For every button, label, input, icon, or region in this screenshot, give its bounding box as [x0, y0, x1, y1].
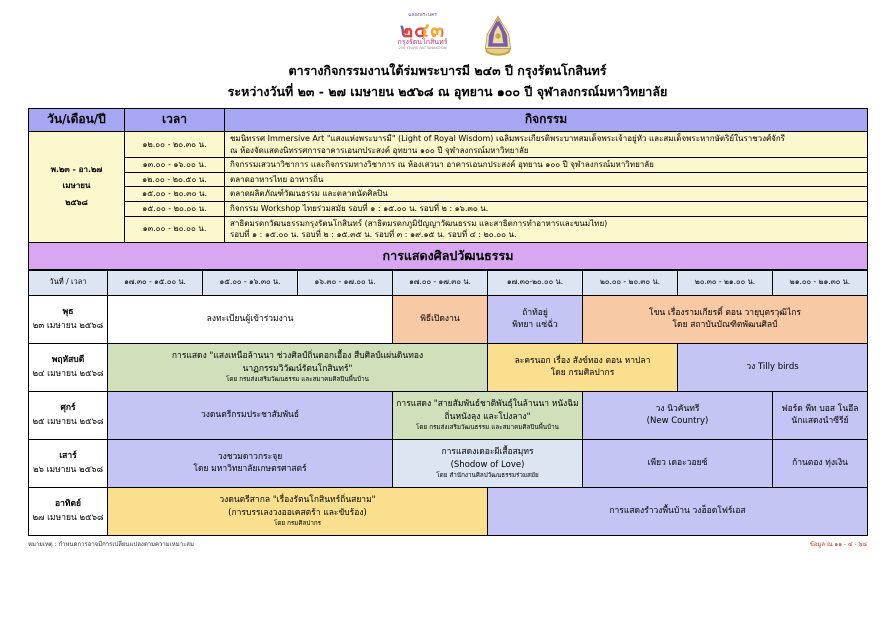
- schedule-row: ๑๓.๐๐ - ๒๐.๐๐ น.สาธิตมรดกวัฒนธรรมกรุงรัต…: [29, 216, 868, 242]
- perf-event-cell: โขน เรื่องรามเกียรติ์ ตอน วายุบุตรวุฒิไก…: [583, 295, 868, 343]
- logo-subtitle: กรุงรัตนโกสินทร์: [380, 39, 466, 46]
- schedule-row: ๑๒.๐๐ - ๒๐.๕๐ น.ตลาดอาหารไทย อาหารถิ่น: [29, 172, 868, 187]
- perf-day-cell: ศุกร์๒๕ เมษายน ๒๕๖๘: [29, 391, 108, 439]
- schedule-row: พ.๒๓ - อา.๒๗เมษายน๒๕๖๘๑๒.๐๐ - ๒๐.๓๐ น.ชม…: [29, 132, 868, 158]
- schedule-time-cell: ๑๕.๐๐ - ๒๐.๓๐ น.: [125, 187, 225, 202]
- perf-event-title: ก้านตอง ทุ่งเงิน: [776, 457, 864, 469]
- perf-event-cell: เพียว เดอะวอยซ์: [583, 439, 773, 487]
- perf-day-cell: พฤหัสบดี๒๔ เมษายน ๒๕๖๘: [29, 343, 108, 391]
- activity-line: สาธิตมรดกวัฒนธรรมกรุงรัตนโกสินทร์ (สาธิต…: [230, 219, 607, 228]
- perf-event-title: ฟอร์ด พีท บอส โนอึล: [776, 403, 864, 415]
- perf-event-subtitle: นักแสดงนำซีรีย์: [776, 415, 864, 427]
- perf-event-title: การแสดง "แสงเหนือล้านนา ช่วงศิลป์ถิ่นดอก…: [111, 350, 484, 362]
- schedule-activity-cell: ตลาดอาหารไทย อาหารถิ่น: [225, 172, 868, 187]
- perf-event-title: ละครนอก เรื่อง สังข์ทอง ตอน หาปลา: [491, 355, 674, 367]
- title-block: ตารางกิจกรรมงานใต้ร่มพระบารมี ๒๔๓ ปี กรุ…: [28, 62, 867, 102]
- schedule-activity-cell: สาธิตมรดกวัฒนธรรมกรุงรัตนโกสินทร์ (สาธิต…: [225, 216, 868, 242]
- perf-event-credit: โดย กรมส่งเสริมวัฒนธรรม และสมาคมศิลปินพื…: [396, 423, 579, 432]
- perf-day-date: ๒๖ เมษายน ๒๕๖๘: [32, 463, 104, 477]
- perf-event-title: เพียว เดอะวอยซ์: [586, 457, 769, 469]
- perf-event-cell: ฟอร์ด พีท บอส โนอึลนักแสดงนำซีรีย์: [773, 391, 868, 439]
- activity-line: รอบที่ ๑ : ๑๕.๐๐ น. รอบที่ ๒ : ๑๕.๓๕ น. …: [230, 229, 864, 241]
- perf-event-subtitle: โดย สถาบันบัณฑิตพัฒนศิลป์: [586, 319, 864, 331]
- schedule-activity-cell: กิจกรรม Workshop ไทยร่วมสมัย รอบที่ ๑ : …: [225, 201, 868, 216]
- perf-event-title: ลงทะเบียนผู้เข้าร่วมงาน: [111, 313, 389, 325]
- perf-day-name: ศุกร์: [32, 401, 104, 415]
- perf-event-cell: วงชวมดาวกระจุยโดย มหาวิทยาลัยเกษตรศาสตร์: [108, 439, 393, 487]
- perf-event-title: การแสดงเดอะผีเสื้อสมุทร: [396, 446, 579, 458]
- perf-header-timeslot: ๑๗.๐๐ - ๑๗.๓๐ น.: [393, 270, 488, 295]
- logo-row: ฉลองพระนคร ๒๔๓ กรุงรัตนโกสินทร์ 250 YEAR…: [28, 12, 867, 58]
- perf-event-title: การแสดงรำวงพื้นบ้าน วงฮ็อดโฟร์เอส: [491, 505, 864, 517]
- perf-day-name: พุธ: [32, 305, 104, 319]
- perf-day-cell: เสาร์๒๖ เมษายน ๒๕๖๘: [29, 439, 108, 487]
- perf-event-cell: ถ้าท้อยู่พิทยา แซ่ฉั่ว: [488, 295, 583, 343]
- perf-event-cell: ละครนอก เรื่อง สังข์ทอง ตอน หาปลาโดย กรม…: [488, 343, 678, 391]
- schedule-activity-cell: กิจกรรมเสวนาวิชาการ และกิจกรรมทางวิชาการ…: [225, 158, 868, 173]
- perf-header-timeslot: ๒๑.๐๐ - ๒๑.๓๐ น.: [773, 270, 868, 295]
- perf-event-title: วงดนตรีสากล "เรื่องรัตนโกสินทร์ถิ่นสยาม": [111, 494, 484, 506]
- schedule-activity-cell: ชมนิทรรศ Immersive Art "แสงแห่งพระบารมี"…: [225, 132, 868, 158]
- perf-event-subtitle: (Shodow of Love): [396, 459, 579, 471]
- logo-number: ๒๔๓: [380, 20, 466, 40]
- document-page: ฉลองพระนคร ๒๔๓ กรุงรัตนโกสินทร์ 250 YEAR…: [0, 0, 895, 631]
- schedule-activity-cell: ตลาดผลิตภัณฑ์วัฒนธรรม และตลาดนัดศิลปิน: [225, 187, 868, 202]
- schedule-time-cell: ๑๕.๐๐ - ๒๐.๐๐ น.: [125, 201, 225, 216]
- date-line: พ.๒๓ - อา.๒๗: [32, 162, 121, 179]
- performance-section-banner: การแสดงศิลปวัฒนธรรม: [29, 242, 868, 269]
- perf-event-subtitle: นาฏกรรมวิวัฒน์รัตนโกสินทร์": [111, 363, 484, 375]
- perf-event-subtitle: ถิ่นหนังลุง และโปงลาง": [396, 411, 579, 423]
- date-line: ๒๕๖๘: [32, 195, 121, 212]
- perf-event-title: วงชวมดาวกระจุย: [111, 451, 389, 463]
- perf-event-credit: โดย กรมส่งเสริมวัฒนธรรม และสมาคมศิลปินพื…: [111, 375, 484, 384]
- schedule-date-cell: พ.๒๓ - อา.๒๗เมษายน๒๕๖๘: [29, 132, 125, 243]
- schedule-time-cell: ๑๓.๐๐ - ๑๖.๐๐ น.: [125, 158, 225, 173]
- perf-event-cell: การแสดง "สายสัมพันธ์ชาติพันธุ์ในล้านนา ห…: [393, 391, 583, 439]
- schedule-time-cell: ๑๓.๐๐ - ๒๐.๐๐ น.: [125, 216, 225, 242]
- performance-header-row: วันที่ / เวลา๑๗.๓๐ - ๑๕.๐๐ น.๑๕.๐๐ - ๑๖.…: [29, 270, 868, 295]
- perf-day-date: ๒๕ เมษายน ๒๕๖๘: [32, 415, 104, 429]
- perf-event-title: วง นิวคันทรี: [586, 403, 769, 415]
- perf-event-title: วงดนตรีกรมประชาสัมพันธ์: [111, 409, 389, 421]
- perf-event-title: วง Tilly birds: [681, 361, 864, 373]
- perf-day-row: เสาร์๒๖ เมษายน ๒๕๖๘วงชวมดาวกระจุยโดย มหา…: [29, 439, 868, 487]
- perf-header-timeslot: ๑๖.๓๐ - ๑๗.๐๐ น.: [298, 270, 393, 295]
- perf-day-row: พฤหัสบดี๒๔ เมษายน ๒๕๖๘การแสดง "แสงเหนือล…: [29, 343, 868, 391]
- perf-event-credit: โดย สำนักงานศิลปวัฒนธรรมร่วมสมัย: [396, 471, 579, 480]
- document-title: ตารางกิจกรรมงานใต้ร่มพระบารมี ๒๔๓ ปี กรุ…: [28, 62, 867, 81]
- perf-event-cell: ก้านตอง ทุ่งเงิน: [773, 439, 868, 487]
- perf-event-cell: วงดนตรีสากล "เรื่องรัตนโกสินทร์ถิ่นสยาม"…: [108, 487, 488, 535]
- royal-emblem-icon: [480, 14, 516, 58]
- schedule-time-cell: ๑๒.๐๐ - ๒๐.๓๐ น.: [125, 132, 225, 158]
- activity-line: กิจกรรมเสวนาวิชาการ และกิจกรรมทางวิชาการ…: [230, 160, 654, 169]
- perf-event-subtitle: โดย กรมศิลปากร: [491, 367, 674, 379]
- header-date: วัน/เดือน/ปี: [29, 109, 125, 132]
- perf-event-subtitle: (การบรรเลงวงออเคสตร้า และขับร้อง): [111, 507, 484, 519]
- perf-event-cell: วง นิวคันทรี(New Country): [583, 391, 773, 439]
- perf-day-date: ๒๔ เมษายน ๒๕๖๘: [32, 367, 104, 381]
- schedule-header-row: วัน/เดือน/ปี เวลา กิจกรรม: [29, 109, 868, 132]
- document-subtitle: ระหว่างวันที่ ๒๓ - ๒๗ เมษายน ๒๕๖๘ ณ อุทย…: [28, 81, 867, 102]
- perf-event-cell: วงดนตรีกรมประชาสัมพันธ์: [108, 391, 393, 439]
- perf-day-date: ๒๓ เมษายน ๒๕๖๘: [32, 319, 104, 333]
- perf-event-title: การแสดง "สายสัมพันธ์ชาติพันธุ์ในล้านนา ห…: [396, 398, 579, 410]
- perf-event-title: ถ้าท้อยู่: [491, 307, 579, 319]
- perf-event-cell: การแสดงรำวงพื้นบ้าน วงฮ็อดโฟร์เอส: [488, 487, 868, 535]
- perf-day-row: อาทิตย์๒๗ เมษายน ๒๕๖๘วงดนตรีสากล "เรื่อง…: [29, 487, 868, 535]
- perf-event-title: โขน เรื่องรามเกียรติ์ ตอน วายุบุตรวุฒิไก…: [586, 307, 864, 319]
- perf-header-timeslot: ๒๐.๓๐ - ๒๑.๐๐ น.: [678, 270, 773, 295]
- perf-header-day: วันที่ / เวลา: [29, 270, 108, 295]
- perf-event-subtitle: พิทยา แซ่ฉั่ว: [491, 319, 579, 331]
- perf-event-cell: การแสดงเดอะผีเสื้อสมุทร(Shodow of Love)โ…: [393, 439, 583, 487]
- activity-line: กิจกรรม Workshop ไทยร่วมสมัย รอบที่ ๑ : …: [230, 204, 488, 213]
- perf-header-timeslot: ๑๕.๐๐ - ๑๖.๓๐ น.: [203, 270, 298, 295]
- date-line: เมษายน: [32, 178, 121, 195]
- activity-line: ตลาดผลิตภัณฑ์วัฒนธรรม และตลาดนัดศิลปิน: [230, 189, 388, 198]
- schedule-row: ๑๕.๐๐ - ๒๐.๐๐ น.กิจกรรม Workshop ไทยร่วม…: [29, 201, 868, 216]
- schedule-time-cell: ๑๒.๐๐ - ๒๐.๕๐ น.: [125, 172, 225, 187]
- perf-day-name: อาทิตย์: [32, 497, 104, 511]
- perf-header-timeslot: ๑๗.๓๐ - ๑๕.๐๐ น.: [108, 270, 203, 295]
- perf-day-row: ศุกร์๒๕ เมษายน ๒๕๖๘วงดนตรีกรมประชาสัมพัน…: [29, 391, 868, 439]
- schedule-row: ๑๓.๐๐ - ๑๖.๐๐ น.กิจกรรมเสวนาวิชาการ และก…: [29, 158, 868, 173]
- footer-updated: ข้อมูล ณ ๑๑ - ๔ - ๖๘: [810, 539, 867, 549]
- perf-event-subtitle: (New Country): [586, 415, 769, 427]
- perf-day-cell: อาทิตย์๒๗ เมษายน ๒๕๖๘: [29, 487, 108, 535]
- perf-day-row: พุธ๒๓ เมษายน ๒๕๖๘ลงทะเบียนผู้เข้าร่วมงาน…: [29, 295, 868, 343]
- activity-line: ณ ห้องจัดแสดงนิทรรศการอาคารเอนกประสงค์ อ…: [230, 145, 864, 157]
- perf-event-cell: วง Tilly birds: [678, 343, 868, 391]
- section-banner-row: การแสดงศิลปวัฒนธรรม: [29, 242, 868, 269]
- perf-event-cell: ลงทะเบียนผู้เข้าร่วมงาน: [108, 295, 393, 343]
- header-time: เวลา: [125, 109, 225, 132]
- perf-event-cell: การแสดง "แสงเหนือล้านนา ช่วงศิลป์ถิ่นดอก…: [108, 343, 488, 391]
- perf-event-credit: โดย กรมศิลปากร: [111, 519, 484, 528]
- header-activity: กิจกรรม: [225, 109, 868, 132]
- schedule-table: วัน/เดือน/ปี เวลา กิจกรรม พ.๒๓ - อา.๒๗เม…: [28, 108, 868, 270]
- activity-line: ตลาดอาหารไทย อาหารถิ่น: [230, 175, 323, 184]
- footer-note: หมายเหตุ : กำหนดการอาจมีการเปลี่ยนแปลงตา…: [28, 539, 194, 549]
- perf-day-date: ๒๗ เมษายน ๒๕๖๘: [32, 511, 104, 525]
- logo-foot-text: 250 YEARS RATTANAKOSIN: [380, 47, 466, 51]
- performance-table: วันที่ / เวลา๑๗.๓๐ - ๑๕.๐๐ น.๑๕.๐๐ - ๑๖.…: [28, 270, 868, 536]
- perf-event-cell: พิธีเปิดงาน: [393, 295, 488, 343]
- perf-day-name: เสาร์: [32, 449, 104, 463]
- perf-event-title: พิธีเปิดงาน: [396, 313, 484, 325]
- schedule-row: ๑๕.๐๐ - ๒๐.๓๐ น.ตลาดผลิตภัณฑ์วัฒนธรรม แล…: [29, 187, 868, 202]
- perf-header-timeslot: ๑๗.๓๐-๒๐.๐๐ น.: [488, 270, 583, 295]
- perf-header-timeslot: ๒๐.๐๐ - ๒๐.๓๐ น.: [583, 270, 678, 295]
- perf-event-subtitle: โดย มหาวิทยาลัยเกษตรศาสตร์: [111, 463, 389, 475]
- perf-day-name: พฤหัสบดี: [32, 353, 104, 367]
- activity-line: ชมนิทรรศ Immersive Art "แสงแห่งพระบารมี"…: [230, 134, 785, 143]
- perf-day-cell: พุธ๒๓ เมษายน ๒๕๖๘: [29, 295, 108, 343]
- anniversary-logo: ฉลองพระนคร ๒๔๓ กรุงรัตนโกสินทร์ 250 YEAR…: [380, 14, 466, 58]
- footer: หมายเหตุ : กำหนดการอาจมีการเปลี่ยนแปลงตา…: [28, 539, 867, 549]
